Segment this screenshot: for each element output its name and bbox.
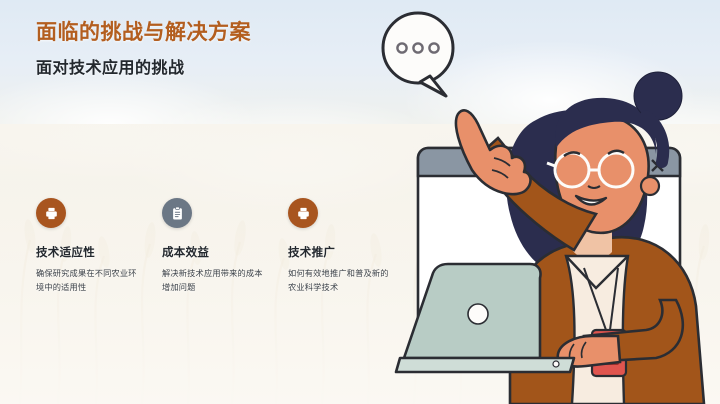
laptop-logo <box>468 304 488 324</box>
page-subtitle: 面对技术应用的挑战 <box>36 59 251 79</box>
feature-description: 确保研究成果在不同农业环境中的适用性 <box>36 267 140 294</box>
illustration-woman-pointing-at-laptop <box>360 0 720 404</box>
feature-item-2[interactable]: 技术推广 如何有效地推广和普及新的农业科学技术 <box>288 198 392 294</box>
feature-description: 解决新技术应用带来的成本增加问题 <box>162 267 266 294</box>
feature-item-1[interactable]: 成本效益 解决新技术应用带来的成本增加问题 <box>162 198 266 294</box>
feature-title: 成本效益 <box>162 244 266 260</box>
slide: 面临的挑战与解决方案 面对技术应用的挑战 技术适应性 确保研究成果在不同农业环境… <box>0 0 720 404</box>
printer-icon <box>288 198 318 228</box>
title-block: 面临的挑战与解决方案 面对技术应用的挑战 <box>36 20 251 79</box>
clipboard-icon <box>162 198 192 228</box>
feature-title: 技术适应性 <box>36 244 140 260</box>
feature-list: 技术适应性 确保研究成果在不同农业环境中的适用性 成本效益 解决新技术应用带来的… <box>36 198 392 294</box>
feature-description: 如何有效地推广和普及新的农业科学技术 <box>288 267 392 294</box>
page-title: 面临的挑战与解决方案 <box>36 20 251 46</box>
ear <box>641 177 659 195</box>
printer-icon <box>36 198 66 228</box>
feature-title: 技术推广 <box>288 244 392 260</box>
feature-item-0[interactable]: 技术适应性 确保研究成果在不同农业环境中的适用性 <box>36 198 140 294</box>
speech-bubble-icon <box>383 13 453 96</box>
